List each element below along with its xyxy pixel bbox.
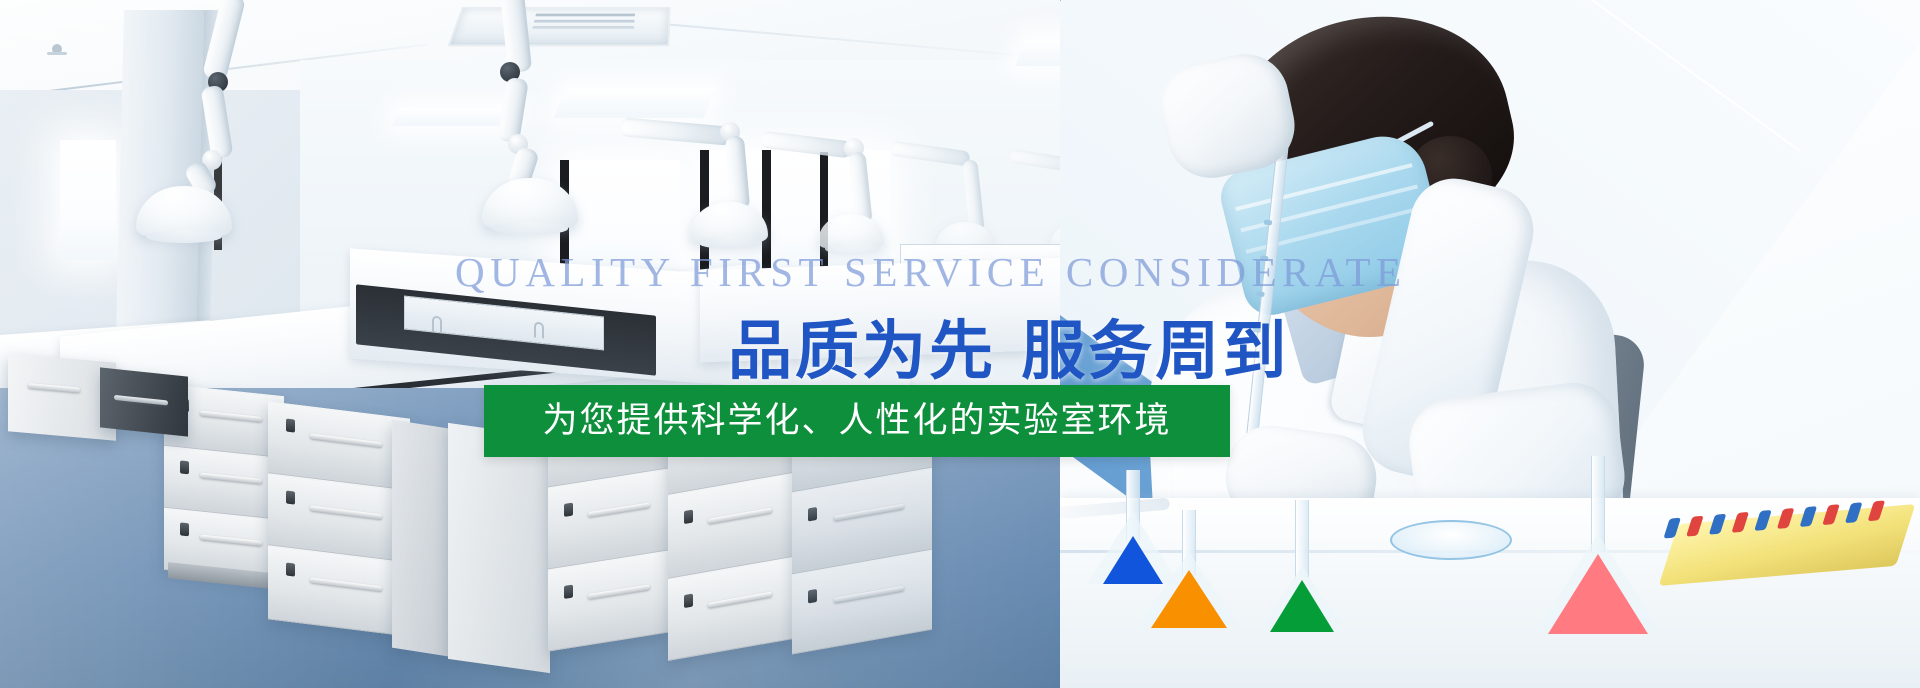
pipette-graduation-marks xyxy=(1264,220,1272,226)
flask-green-liquid xyxy=(1270,580,1334,632)
drawer-lock[interactable] xyxy=(808,589,817,604)
english-tagline: QUALITY FIRST SERVICE CONSIDERATE xyxy=(455,248,1407,296)
drawer-lock[interactable] xyxy=(286,490,295,504)
drawer-handle[interactable] xyxy=(834,586,904,603)
drawer-handle[interactable] xyxy=(708,592,772,608)
under-bench-equipment xyxy=(100,367,188,436)
drawer-cabinet xyxy=(268,401,410,636)
cabinet-side-panel xyxy=(392,420,448,657)
drawer-handle[interactable] xyxy=(200,472,262,484)
drawer-lock[interactable] xyxy=(180,522,189,536)
equipment-handle[interactable] xyxy=(114,395,168,406)
ceiling-ac-vent xyxy=(447,7,670,47)
drawer-handle[interactable] xyxy=(310,433,382,447)
drawer-handle[interactable] xyxy=(310,577,382,591)
flask-pink-liquid xyxy=(1548,554,1648,634)
petri-dish xyxy=(1390,520,1512,560)
cabinet-door[interactable] xyxy=(448,423,550,673)
drawer-handle[interactable] xyxy=(588,502,650,517)
subtitle-band: 为您提供科学化、人性化的实验室环境 xyxy=(484,385,1230,457)
sprinkler-head xyxy=(52,44,62,54)
drawer-lock[interactable] xyxy=(564,585,573,599)
drawer-lock[interactable] xyxy=(564,503,573,517)
drawer-handle[interactable] xyxy=(200,410,262,422)
drawer-handle[interactable] xyxy=(588,584,650,599)
drawer-lock[interactable] xyxy=(286,418,295,432)
headline: 品质为先 服务周到 xyxy=(728,300,1289,392)
ceiling-light-panel xyxy=(553,88,716,118)
drawer-handle[interactable] xyxy=(310,505,382,519)
subtitle-text: 为您提供科学化、人性化的实验室环境 xyxy=(484,385,1230,457)
window xyxy=(60,140,116,260)
flask-orange-liquid xyxy=(1151,570,1227,628)
drawer-lock[interactable] xyxy=(684,594,693,609)
lab-hero-banner: QUALITY FIRST SERVICE CONSIDERATE 品质为先 服… xyxy=(0,0,1920,688)
bench-faucet xyxy=(534,321,544,338)
drawer-handle[interactable] xyxy=(708,508,772,524)
drawer-handle[interactable] xyxy=(834,504,904,521)
bench-faucet xyxy=(432,315,442,332)
drawer-handle[interactable] xyxy=(200,534,262,546)
drawer-lock[interactable] xyxy=(286,562,295,576)
drawer-lock[interactable] xyxy=(684,510,693,525)
drawer-lock[interactable] xyxy=(808,507,817,522)
drawer-handle[interactable] xyxy=(28,383,80,393)
drawer-lock[interactable] xyxy=(180,460,189,474)
